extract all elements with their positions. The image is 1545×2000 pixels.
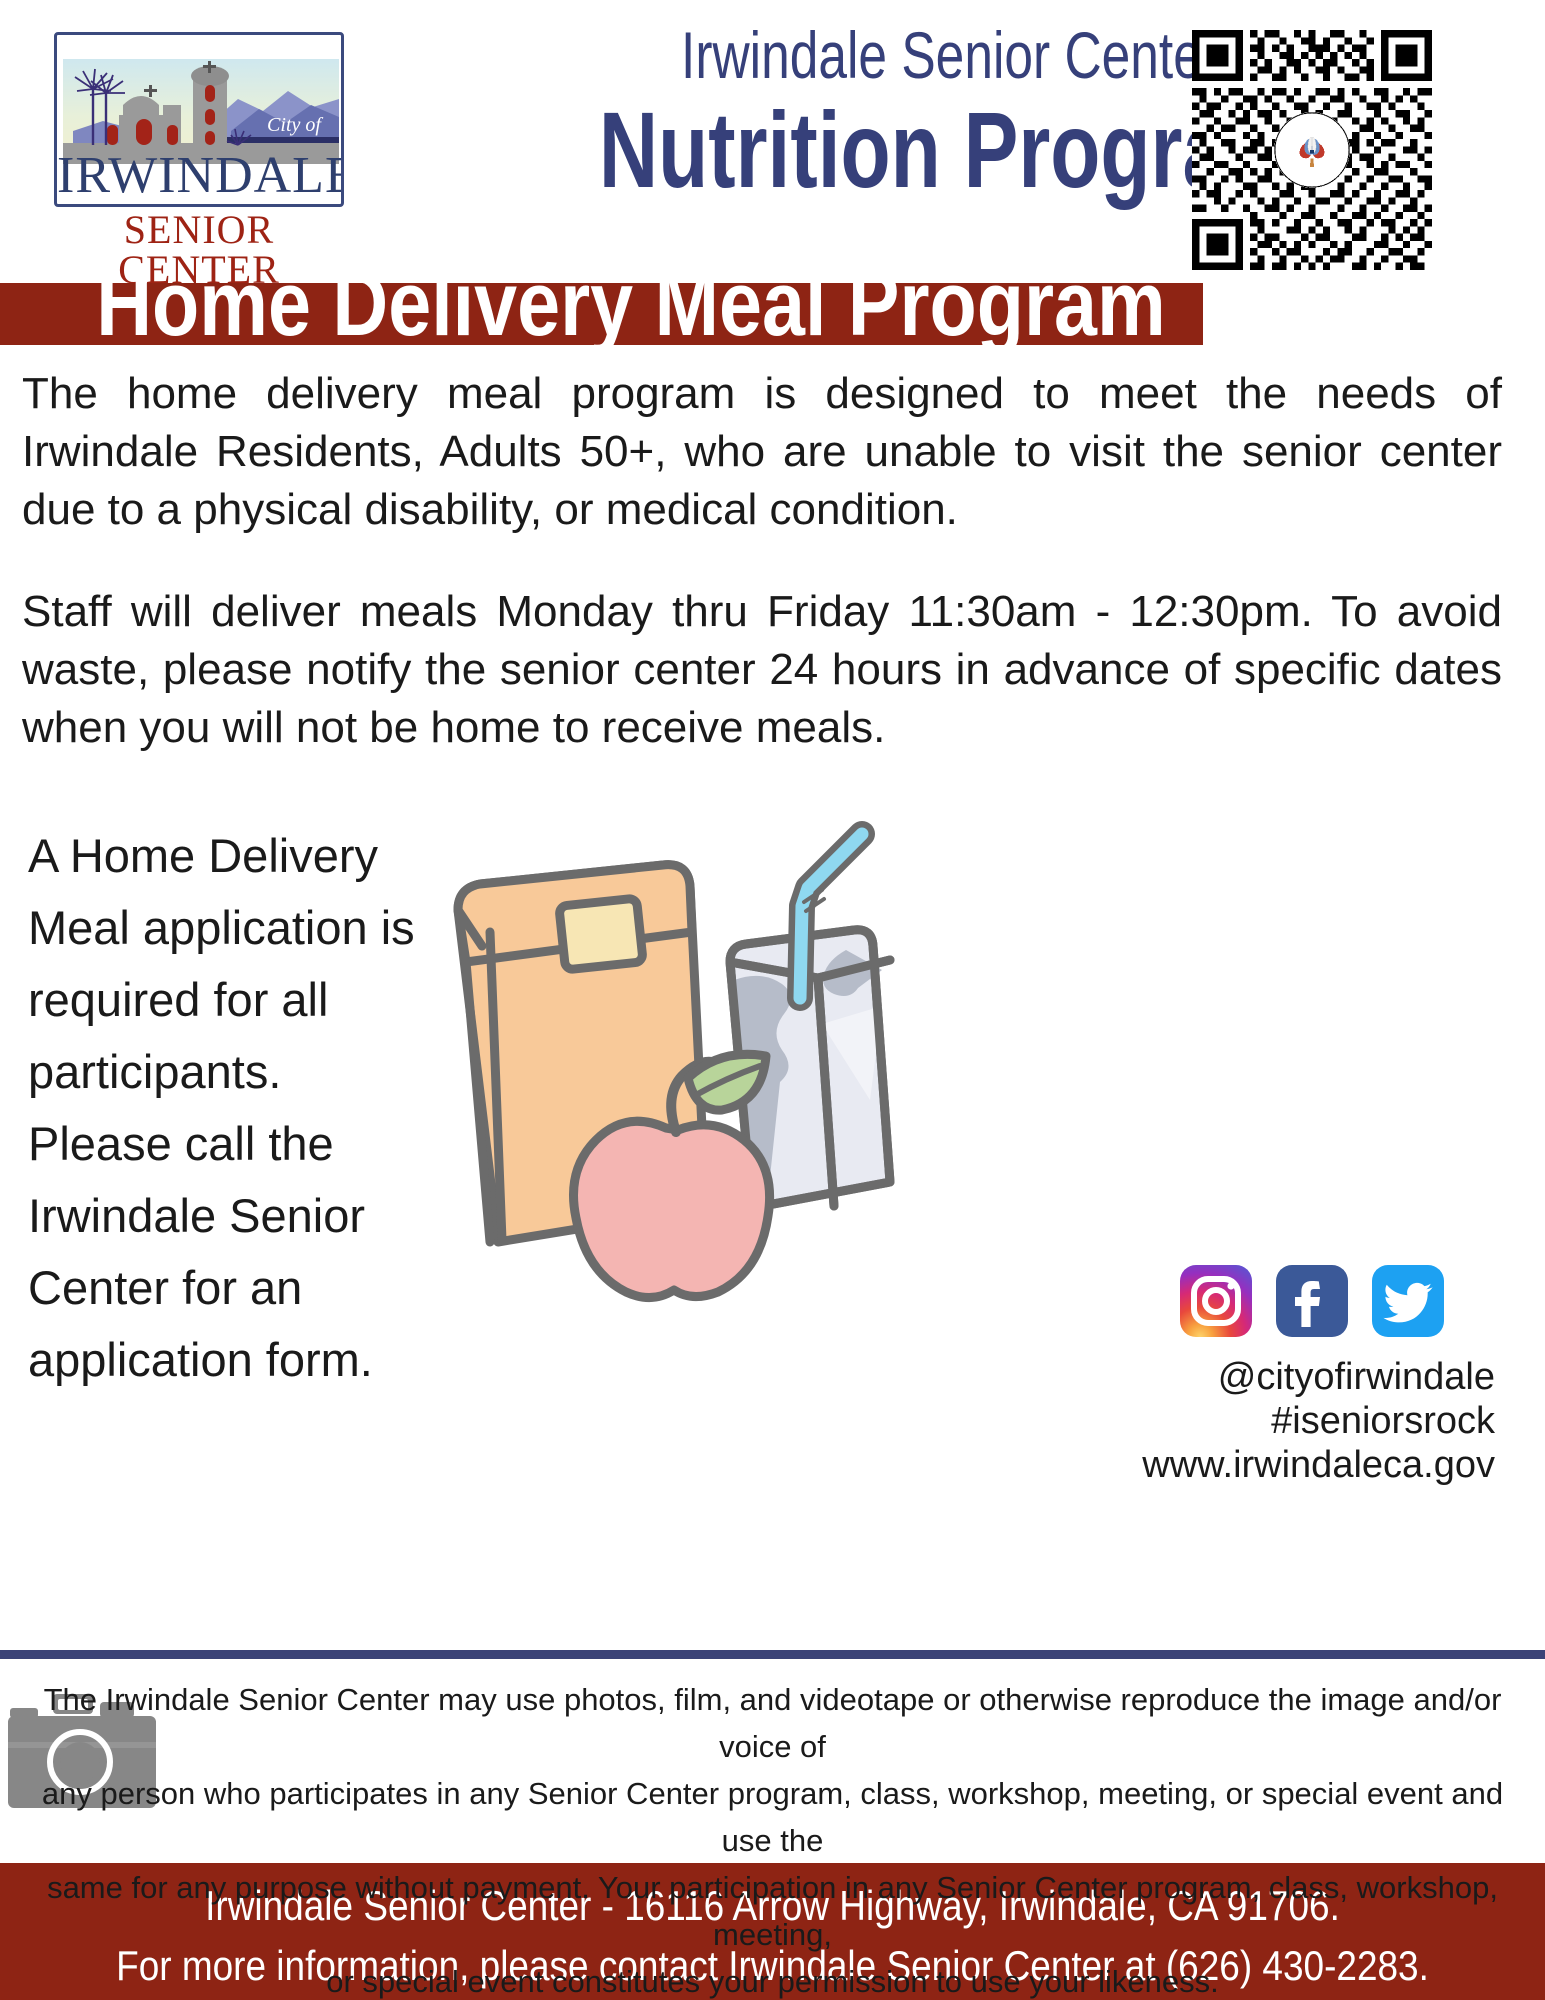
social-icons [1180,1265,1445,1337]
facebook-icon[interactable] [1276,1265,1348,1337]
flyer-page: City of IRWINDALE SENIOR CENTER Irwindal… [0,0,1545,2000]
body-paragraph-2: Staff will deliver meals Monday thru Fri… [22,583,1502,757]
facebook-glyph [1276,1265,1348,1337]
lunch-illustration-svg [430,810,930,1310]
disclaimer-line-2: any person who participates in any Senio… [20,1770,1525,1864]
social-handle: @cityofirwindale [1020,1355,1495,1399]
social-handles: @cityofirwindale #iseniorsrock www.irwin… [1020,1355,1495,1487]
body-copy: The home delivery meal program is design… [22,365,1502,757]
instagram-glyph [1180,1265,1252,1337]
disclaimer-line-3: same for any purpose without payment. Yo… [20,1864,1525,1958]
qr-center-logo [1275,113,1349,187]
city-of-text: City of [267,114,323,136]
title-banner: Home Delivery Meal Program [0,283,1203,345]
irwindale-senior-center-logo: City of IRWINDALE SENIOR CENTER [28,14,368,264]
meal-illustration [430,810,930,1310]
disclaimer-line-4: or special event constitutes your permis… [20,1958,1525,2000]
social-hashtag: #iseniorsrock [1020,1399,1495,1443]
body-paragraph-1: The home delivery meal program is design… [22,365,1502,539]
qr-code[interactable] [1192,30,1432,270]
website-url: www.irwindaleca.gov [1020,1443,1495,1487]
twitter-glyph [1372,1265,1444,1337]
instagram-icon[interactable] [1180,1265,1252,1337]
qr-code-svg [1192,30,1432,270]
section-divider [0,1650,1545,1659]
disclaimer-text: The Irwindale Senior Center may use phot… [20,1676,1525,2000]
middle-section: A Home Delivery Meal application is requ… [0,800,1545,1620]
disclaimer-line-1: The Irwindale Senior Center may use phot… [20,1676,1525,1770]
twitter-icon[interactable] [1372,1265,1444,1337]
title-banner-text: Home Delivery Meal Program [96,258,1107,350]
city-seal-shield: City of IRWINDALE [54,32,344,207]
application-note: A Home Delivery Meal application is requ… [28,820,423,1396]
logo-city-name: IRWINDALE [57,150,341,202]
